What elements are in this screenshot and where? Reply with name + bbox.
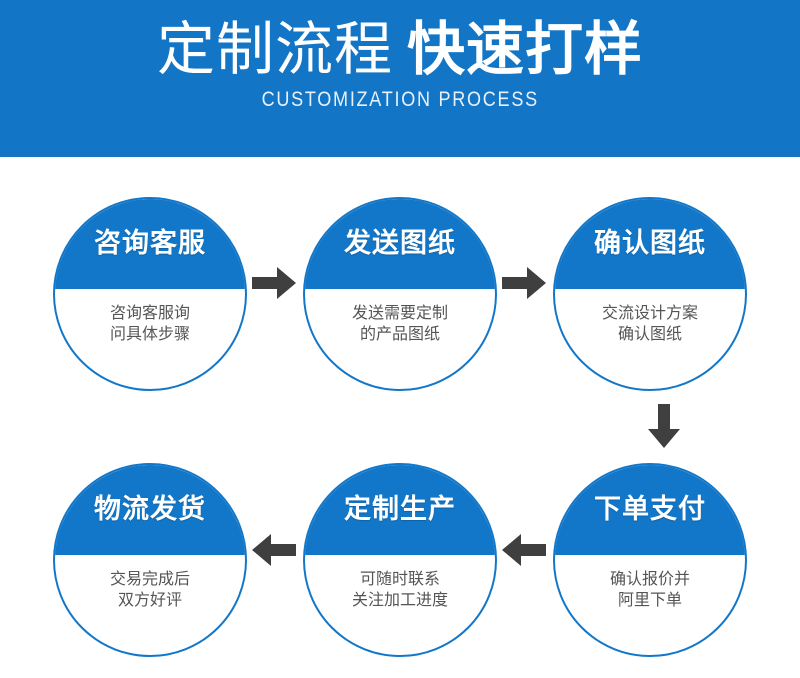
step-title: 定制生产 <box>303 493 497 525</box>
process-step-2: 发送图纸 发送需要定制 的产品图纸 <box>303 197 497 391</box>
step-description-line-2: 问具体步骤 <box>53 324 247 345</box>
process-step-1: 咨询客服 咨询客服询 问具体步骤 <box>53 197 247 391</box>
arrow-right-icon <box>252 267 296 299</box>
step-title: 确认图纸 <box>553 227 747 259</box>
process-step-3: 确认图纸 交流设计方案 确认图纸 <box>553 197 747 391</box>
step-description-line-2: 的产品图纸 <box>303 324 497 345</box>
step-title: 下单支付 <box>553 493 747 525</box>
page-header: 定制流程快速打样 CUSTOMIZATION PROCESS <box>0 0 800 157</box>
customization-process-infographic: 定制流程快速打样 CUSTOMIZATION PROCESS 咨询客服 咨询客服… <box>0 0 800 678</box>
arrow-down-icon <box>648 404 680 448</box>
arrow-left-icon <box>252 534 296 566</box>
step-description-line-1: 交易完成后 <box>53 569 247 590</box>
step-description: 交流设计方案 确认图纸 <box>553 303 747 345</box>
process-step-4: 下单支付 确认报价并 阿里下单 <box>553 463 747 657</box>
step-description: 可随时联系 关注加工进度 <box>303 569 497 611</box>
step-description-line-1: 交流设计方案 <box>553 303 747 324</box>
process-step-5: 定制生产 可随时联系 关注加工进度 <box>303 463 497 657</box>
step-description-line-2: 确认图纸 <box>553 324 747 345</box>
step-description-line-1: 确认报价并 <box>553 569 747 590</box>
step-title: 发送图纸 <box>303 227 497 259</box>
arrow-left-icon <box>502 534 546 566</box>
arrow-right-icon <box>502 267 546 299</box>
step-description: 交易完成后 双方好评 <box>53 569 247 611</box>
step-description: 咨询客服询 问具体步骤 <box>53 303 247 345</box>
page-title-bold: 快速打样 <box>407 17 643 82</box>
step-description: 确认报价并 阿里下单 <box>553 569 747 611</box>
step-description-line-2: 关注加工进度 <box>303 590 497 611</box>
step-description-line-1: 咨询客服询 <box>53 303 247 324</box>
step-description-line-2: 双方好评 <box>53 590 247 611</box>
page-subtitle: CUSTOMIZATION PROCESS <box>261 88 538 112</box>
step-description-line-1: 发送需要定制 <box>303 303 497 324</box>
step-description-line-1: 可随时联系 <box>303 569 497 590</box>
page-title: 定制流程快速打样 <box>157 18 643 82</box>
step-description: 发送需要定制 的产品图纸 <box>303 303 497 345</box>
process-flow-diagram: 咨询客服 咨询客服询 问具体步骤 发送图纸 发送需要定制 的产品图纸 确认图纸 <box>0 157 800 678</box>
step-description-line-2: 阿里下单 <box>553 590 747 611</box>
page-title-light: 定制流程 <box>157 17 393 82</box>
process-step-6: 物流发货 交易完成后 双方好评 <box>53 463 247 657</box>
step-title: 咨询客服 <box>53 227 247 259</box>
step-title: 物流发货 <box>53 493 247 525</box>
